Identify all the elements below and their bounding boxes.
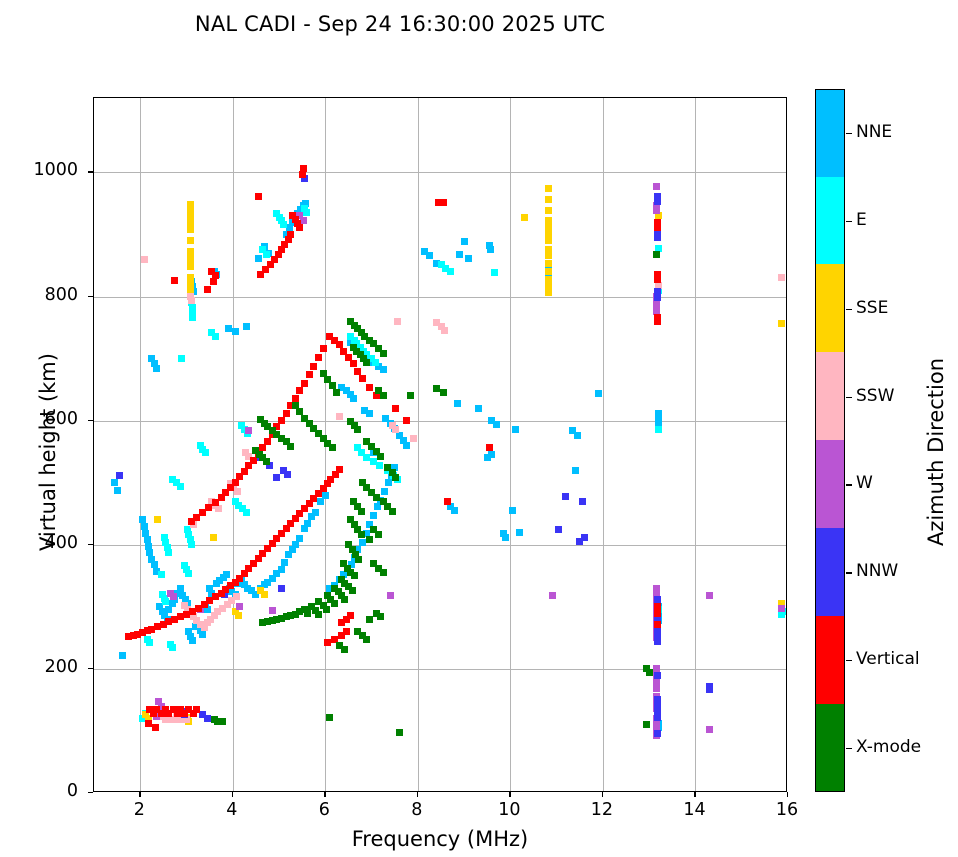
data-point [521, 214, 528, 221]
data-point [205, 504, 212, 511]
data-point [188, 518, 195, 525]
data-point [451, 507, 458, 514]
data-point [280, 221, 287, 228]
data-point [491, 269, 498, 276]
data-point [366, 616, 373, 623]
data-point [304, 610, 311, 617]
data-point [410, 435, 417, 442]
data-point [245, 427, 252, 434]
data-point [283, 410, 290, 417]
data-point [654, 224, 661, 231]
data-point [502, 534, 509, 541]
data-point [706, 592, 713, 599]
data-point [433, 385, 440, 392]
colorbar-tick [846, 309, 852, 310]
colorbar-tick [846, 572, 852, 573]
data-point [372, 359, 379, 366]
data-point [654, 621, 661, 628]
data-point [310, 363, 317, 370]
data-point [218, 494, 225, 501]
data-point [493, 421, 500, 428]
data-point [440, 199, 447, 206]
data-point [444, 498, 451, 505]
data-point [165, 606, 172, 613]
data-point [189, 314, 196, 321]
data-point [654, 672, 661, 679]
data-point [284, 471, 291, 478]
data-point [345, 354, 352, 361]
colorbar-segment[interactable] [816, 528, 844, 616]
data-point [312, 509, 319, 516]
colorbar-tick [846, 484, 852, 485]
data-point [654, 294, 661, 301]
data-point [125, 633, 132, 640]
data-point [292, 541, 299, 548]
colorbar-label-sse: SSE [856, 298, 888, 318]
data-point [296, 224, 303, 231]
data-point [259, 619, 266, 626]
data-point [654, 596, 661, 603]
data-point [380, 392, 387, 399]
data-point [212, 333, 219, 340]
data-point [654, 318, 661, 325]
data-point [403, 417, 410, 424]
data-point [317, 498, 324, 505]
x-tick [232, 792, 233, 797]
data-point [653, 183, 660, 190]
y-tick [88, 668, 93, 669]
data-point [177, 483, 184, 490]
x-tick [694, 792, 695, 797]
colorbar-segment[interactable] [816, 264, 844, 352]
data-point [215, 505, 222, 512]
data-point [595, 390, 602, 397]
data-point [376, 462, 383, 469]
data-point [243, 323, 250, 330]
data-point [654, 198, 661, 205]
data-point [255, 193, 262, 200]
data-point [778, 320, 785, 327]
data-point [303, 209, 310, 216]
y-tick [88, 296, 93, 297]
colorbar[interactable] [815, 89, 845, 792]
data-point [359, 375, 366, 382]
data-point [199, 631, 206, 638]
data-point [373, 494, 380, 501]
plot-area [93, 97, 787, 792]
data-point [326, 333, 333, 340]
data-point [363, 359, 370, 366]
data-point [273, 474, 280, 481]
y-tick [88, 420, 93, 421]
data-point [403, 442, 410, 449]
x-tick-label: 8 [387, 800, 447, 820]
data-point [341, 646, 348, 653]
data-point [487, 246, 494, 253]
data-point [154, 623, 161, 630]
data-point [278, 585, 285, 592]
data-point [170, 593, 177, 600]
colorbar-segment[interactable] [816, 89, 844, 177]
x-tick-label: 16 [757, 800, 817, 820]
data-point [218, 590, 225, 597]
data-point [212, 499, 219, 506]
data-point [778, 605, 785, 612]
data-point [315, 611, 322, 618]
colorbar-label-w: W [856, 473, 873, 493]
data-point [322, 492, 329, 499]
data-point [706, 686, 713, 693]
colorbar-title: Azimuth Direction [924, 152, 948, 752]
colorbar-label-ssw: SSW [856, 386, 894, 406]
data-point [193, 706, 200, 713]
data-point [152, 724, 159, 731]
data-point [296, 387, 303, 394]
ionogram-figure: NAL CADI - Sep 24 16:30:00 2025 UTC 2468… [0, 0, 958, 857]
x-axis-title: Frequency (MHz) [93, 827, 787, 851]
colorbar-tick [846, 221, 852, 222]
data-point [653, 685, 660, 692]
colorbar-tick [846, 397, 852, 398]
data-point [545, 289, 552, 296]
data-point [188, 541, 195, 548]
data-point [331, 600, 338, 607]
data-point [475, 405, 482, 412]
y-tick [88, 792, 93, 793]
colorbar-segment[interactable] [816, 704, 844, 792]
data-point [287, 443, 294, 450]
data-point [306, 371, 313, 378]
data-point [484, 454, 491, 461]
data-point [202, 449, 209, 456]
data-point [509, 507, 516, 514]
data-point [380, 569, 387, 576]
data-point [355, 556, 362, 563]
data-point [545, 185, 552, 192]
data-point [243, 509, 250, 516]
data-point [545, 207, 552, 214]
chart-title: NAL CADI - Sep 24 16:30:00 2025 UTC [0, 12, 800, 36]
colorbar-segment[interactable] [816, 352, 844, 440]
data-point [363, 636, 370, 643]
data-point [380, 350, 387, 357]
data-point [389, 508, 396, 515]
data-point [441, 327, 448, 334]
data-point [153, 365, 160, 372]
data-point [576, 538, 583, 545]
data-point [545, 252, 552, 259]
data-point [654, 276, 661, 283]
data-point [349, 587, 356, 594]
x-tick [509, 792, 510, 797]
colorbar-label-x-mode: X-mode [856, 737, 921, 757]
colorbar-tick [846, 748, 852, 749]
data-point [326, 714, 333, 721]
data-point [141, 256, 148, 263]
data-point [189, 637, 196, 644]
data-points-layer [94, 98, 786, 791]
data-point [572, 467, 579, 474]
data-point [655, 426, 662, 433]
x-tick-label: 4 [202, 800, 262, 820]
data-point [366, 536, 373, 543]
data-point [269, 607, 276, 614]
data-point [653, 720, 660, 727]
data-point [358, 531, 365, 538]
data-point [255, 255, 262, 262]
data-point [465, 255, 472, 262]
data-point [195, 605, 202, 612]
data-point [440, 389, 447, 396]
data-point [454, 400, 461, 407]
data-point [234, 488, 241, 495]
x-tick [324, 792, 325, 797]
data-point [396, 729, 403, 736]
data-point [359, 539, 366, 546]
colorbar-label-nne: NNE [856, 122, 892, 142]
y-tick-label: 0 [0, 781, 78, 801]
data-point [225, 325, 232, 332]
data-point [706, 726, 713, 733]
data-point [188, 297, 195, 304]
data-point [646, 669, 653, 676]
data-point [377, 453, 384, 460]
data-point [426, 252, 433, 259]
data-point [315, 354, 322, 361]
data-point [654, 714, 661, 721]
data-point [336, 413, 343, 420]
data-point [187, 263, 194, 270]
colorbar-tick [846, 133, 852, 134]
data-point [381, 488, 388, 495]
data-point [579, 498, 586, 505]
data-point [324, 639, 331, 646]
data-point [146, 639, 153, 646]
data-point [545, 230, 552, 237]
y-axis-title: Virtual height (km) [36, 152, 60, 752]
data-point [223, 571, 230, 578]
data-point [377, 613, 384, 620]
data-point [204, 286, 211, 293]
data-point [555, 526, 562, 533]
data-point [114, 487, 121, 494]
data-point [320, 345, 327, 352]
data-point [296, 535, 303, 542]
data-point [261, 591, 268, 598]
x-tick [602, 792, 603, 797]
x-tick-label: 14 [664, 800, 724, 820]
colorbar-segment[interactable] [816, 177, 844, 265]
data-point [562, 493, 569, 500]
data-point [141, 523, 148, 530]
data-point [158, 571, 165, 578]
data-point [340, 348, 347, 355]
data-point [278, 566, 285, 573]
data-point [486, 444, 493, 451]
data-point [366, 384, 373, 391]
data-point [116, 472, 123, 479]
data-point [394, 318, 401, 325]
data-point [162, 598, 169, 605]
colorbar-tick [846, 660, 852, 661]
data-point [461, 238, 468, 245]
data-point [263, 251, 270, 258]
data-point [385, 479, 392, 486]
colorbar-segment[interactable] [816, 440, 844, 528]
data-point [338, 632, 345, 639]
data-point [341, 596, 348, 603]
data-point [545, 260, 552, 267]
data-point [778, 274, 785, 281]
data-point [358, 508, 365, 515]
x-tick [417, 792, 418, 797]
data-point [210, 534, 217, 541]
data-point [169, 644, 176, 651]
data-point [263, 458, 270, 465]
data-point [281, 559, 288, 566]
data-point [187, 226, 194, 233]
x-tick [139, 792, 140, 797]
x-tick-label: 6 [294, 800, 354, 820]
data-point [447, 268, 454, 275]
data-point [366, 410, 373, 417]
data-point [177, 613, 184, 620]
data-point [654, 730, 661, 737]
data-point [654, 610, 661, 617]
data-point [392, 426, 399, 433]
data-point [545, 196, 552, 203]
data-point [333, 389, 340, 396]
data-point [387, 592, 394, 599]
data-point [354, 368, 361, 375]
data-point [350, 360, 357, 367]
data-point [380, 366, 387, 373]
data-point [354, 426, 361, 433]
data-point [329, 444, 336, 451]
data-point [323, 606, 330, 613]
data-point [654, 638, 661, 645]
data-point [177, 585, 184, 592]
data-point [653, 207, 660, 214]
x-tick-label: 10 [479, 800, 539, 820]
data-point [375, 531, 382, 538]
data-point [516, 529, 523, 536]
data-point [204, 715, 211, 722]
data-point [210, 278, 217, 285]
data-point [257, 271, 264, 278]
data-point [370, 512, 377, 519]
data-point [643, 721, 650, 728]
data-point [653, 251, 660, 258]
data-point [154, 516, 161, 523]
data-point [549, 592, 556, 599]
data-point [119, 652, 126, 659]
data-point [456, 251, 463, 258]
data-point [236, 603, 243, 610]
data-point [304, 520, 311, 527]
data-point [165, 549, 172, 556]
data-point [299, 171, 306, 178]
data-point [235, 612, 242, 619]
data-point [201, 601, 208, 608]
data-point [350, 395, 357, 402]
data-point [171, 277, 178, 284]
y-tick [88, 171, 93, 172]
data-point [392, 474, 399, 481]
data-point [363, 454, 370, 461]
data-point [185, 570, 192, 577]
colorbar-label-nnw: NNW [856, 561, 898, 581]
data-point [111, 479, 118, 486]
data-point [219, 718, 226, 725]
data-point [351, 572, 358, 579]
data-point [512, 426, 519, 433]
x-tick-label: 2 [109, 800, 169, 820]
y-tick [88, 544, 93, 545]
colorbar-label-e: E [856, 210, 867, 230]
data-point [232, 328, 239, 335]
data-point [545, 276, 552, 283]
data-point [392, 405, 399, 412]
data-point [545, 268, 552, 275]
data-point [545, 237, 552, 244]
data-point [187, 237, 194, 244]
data-point [146, 549, 153, 556]
data-point [654, 234, 661, 241]
data-point [407, 392, 414, 399]
data-point [292, 395, 299, 402]
x-tick [787, 792, 788, 797]
data-point [199, 509, 206, 516]
colorbar-segment[interactable] [816, 616, 844, 704]
data-point [178, 355, 185, 362]
data-point [233, 593, 240, 600]
x-tick-label: 12 [572, 800, 632, 820]
data-point [171, 616, 178, 623]
data-point [574, 432, 581, 439]
colorbar-label-vertical: Vertical [856, 649, 920, 669]
data-point [301, 380, 308, 387]
data-point [338, 619, 345, 626]
